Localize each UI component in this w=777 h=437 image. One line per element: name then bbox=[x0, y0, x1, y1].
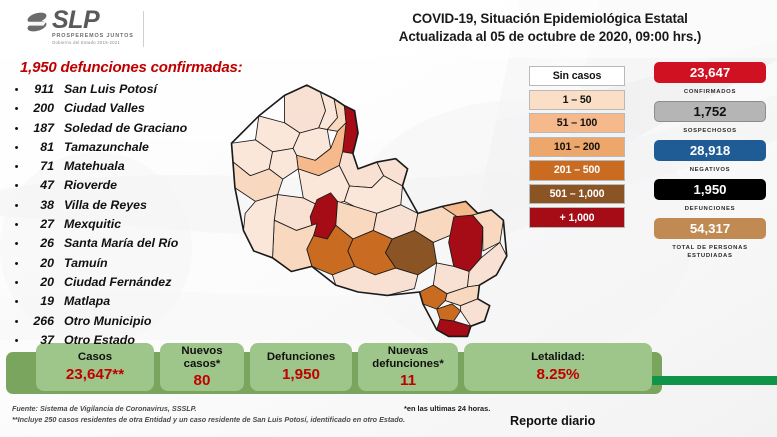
legend-label: Sin casos bbox=[553, 70, 602, 82]
map-legend: Sin casos1 – 5051 – 100101 – 200201 – 50… bbox=[529, 66, 625, 231]
death-count: 20 bbox=[21, 275, 54, 289]
list-item: •911San Luis Potosí bbox=[12, 82, 187, 101]
death-count: 911 bbox=[21, 82, 54, 96]
map-region bbox=[437, 319, 471, 336]
deaths-section-title: 1,950 defunciones confirmadas: bbox=[20, 59, 242, 76]
bullet-icon: • bbox=[12, 238, 21, 250]
legend-row: 501 – 1,000 bbox=[529, 184, 625, 204]
death-count: 200 bbox=[21, 101, 54, 115]
municipality-name: Ciudad Fernández bbox=[64, 275, 171, 289]
summary-card-value: 8.25% bbox=[536, 366, 579, 383]
death-count: 266 bbox=[21, 314, 54, 328]
map-region bbox=[437, 304, 461, 321]
death-count: 26 bbox=[21, 236, 54, 250]
bullet-icon: • bbox=[12, 316, 21, 328]
bullet-icon: • bbox=[12, 123, 21, 135]
death-count: 19 bbox=[21, 294, 54, 308]
legend-row: 101 – 200 bbox=[529, 137, 625, 157]
municipality-name: Soledad de Graciano bbox=[64, 121, 187, 135]
summary-card: Defunciones1,950 bbox=[250, 343, 352, 391]
page-title-line1: COVID-19, Situación Epidemiológica Estat… bbox=[330, 10, 770, 28]
statistics-panel: 23,647CONFIRMADOS1,752SOSPECHOSOS28,918N… bbox=[654, 62, 766, 265]
bullet-icon: • bbox=[12, 335, 21, 347]
list-item: •71Matehuala bbox=[12, 159, 187, 178]
death-count: 47 bbox=[21, 178, 54, 192]
footer-note-cases: **Incluye 250 casos residentes de otra E… bbox=[12, 414, 405, 425]
list-item: •19Matlapa bbox=[12, 294, 187, 313]
legend-label: 1 – 50 bbox=[563, 94, 592, 106]
logo-tagline: PROSPEREMOS JUNTOS bbox=[52, 33, 134, 39]
stat-value: 1,752 bbox=[693, 104, 726, 119]
list-item: •81Tamazunchale bbox=[12, 140, 187, 159]
bullet-icon: • bbox=[12, 219, 21, 231]
bullet-icon: • bbox=[12, 277, 21, 289]
summary-card-label: Nuevas defunciones* bbox=[372, 345, 444, 370]
death-count: 187 bbox=[21, 121, 54, 135]
list-item: •20Ciudad Fernández bbox=[12, 275, 187, 294]
map-region bbox=[243, 195, 277, 258]
stat-label: NEGATIVOS bbox=[654, 166, 766, 174]
municipality-name: Otro Municipio bbox=[64, 314, 151, 328]
stat-label: DEFUNCIONES bbox=[654, 205, 766, 213]
death-count: 38 bbox=[21, 198, 54, 212]
stat-value-pill: 1,950 bbox=[654, 179, 766, 200]
logo-divider bbox=[143, 11, 144, 47]
municipality-name: Matehuala bbox=[64, 159, 125, 173]
municipality-name: Ciudad Valles bbox=[64, 101, 145, 115]
summary-card-value: 11 bbox=[400, 372, 416, 389]
summary-card-value: 1,950 bbox=[282, 366, 320, 383]
footer-report-label: Reporte diario bbox=[510, 414, 595, 428]
list-item: •200Ciudad Valles bbox=[12, 101, 187, 120]
bullet-icon: • bbox=[12, 84, 21, 96]
summary-card-value: 80 bbox=[194, 372, 211, 389]
logo-subtitle: Gobierno del Estado 2015-2021 bbox=[52, 40, 134, 45]
legend-label: 501 – 1,000 bbox=[550, 188, 605, 200]
municipality-name: Matlapa bbox=[64, 294, 110, 308]
municipality-name: Tamazunchale bbox=[64, 140, 149, 154]
municipality-name: Otro Estado bbox=[64, 333, 135, 347]
list-item: •266Otro Municipio bbox=[12, 314, 187, 333]
list-item: •47Rioverde bbox=[12, 178, 187, 197]
legend-row: + 1,000 bbox=[529, 207, 625, 227]
stat-value-pill: 1,752 bbox=[654, 101, 766, 122]
stat-value: 54,317 bbox=[690, 221, 730, 236]
legend-row: Sin casos bbox=[529, 66, 625, 86]
death-count: 71 bbox=[21, 159, 54, 173]
bullet-icon: • bbox=[12, 161, 21, 173]
stat-label: CONFIRMADOS bbox=[654, 88, 766, 96]
footer-source-line: Fuente: Sistema de Vigilancia de Coronav… bbox=[12, 403, 405, 414]
list-item: •38Villa de Reyes bbox=[12, 198, 187, 217]
stat-value: 23,647 bbox=[690, 65, 730, 80]
bullet-icon: • bbox=[12, 180, 21, 192]
summary-card-label: Letalidad: bbox=[531, 351, 585, 364]
list-item: •37Otro Estado bbox=[12, 333, 187, 352]
legend-label: 201 – 500 bbox=[554, 164, 600, 176]
legend-label: + 1,000 bbox=[560, 212, 595, 224]
page-title: COVID-19, Situación Epidemiológica Estat… bbox=[330, 10, 770, 45]
summary-bar-strip bbox=[640, 376, 777, 385]
municipality-name: Mexquitic bbox=[64, 217, 121, 231]
death-count: 37 bbox=[21, 333, 54, 347]
bullet-icon: • bbox=[12, 200, 21, 212]
bullet-icon: • bbox=[12, 103, 21, 115]
stat-value: 1,950 bbox=[693, 182, 726, 197]
summary-card-label: Defunciones bbox=[267, 351, 335, 364]
municipality-name: Rioverde bbox=[64, 178, 117, 192]
summary-card-label: Casos bbox=[78, 351, 112, 364]
death-count: 27 bbox=[21, 217, 54, 231]
municipality-name: Santa María del Río bbox=[64, 236, 178, 250]
stat-value-pill: 23,647 bbox=[654, 62, 766, 83]
list-item: •20Tamuín bbox=[12, 256, 187, 275]
legend-row: 201 – 500 bbox=[529, 160, 625, 180]
legend-row: 1 – 50 bbox=[529, 90, 625, 110]
stat-value: 28,918 bbox=[690, 143, 730, 158]
summary-card-value: 23,647** bbox=[66, 366, 124, 383]
footer-note-24h: *en las ultimas 24 horas. bbox=[404, 404, 490, 413]
stat-value-pill: 28,918 bbox=[654, 140, 766, 161]
municipality-name: San Luis Potosí bbox=[64, 82, 157, 96]
slp-logo: SLP PROSPEREMOS JUNTOS Gobierno del Esta… bbox=[24, 8, 144, 47]
municipality-name: Villa de Reyes bbox=[64, 198, 147, 212]
municipality-name: Tamuín bbox=[64, 256, 108, 270]
list-item: •187Soledad de Graciano bbox=[12, 121, 187, 140]
stat-label: SOSPECHOSOS bbox=[654, 127, 766, 135]
bullet-icon: • bbox=[12, 142, 21, 154]
list-item: •26Santa María del Río bbox=[12, 236, 187, 255]
footer-source: Fuente: Sistema de Vigilancia de Coronav… bbox=[12, 403, 405, 426]
state-choropleth-map bbox=[215, 80, 525, 345]
stat-value-pill: 54,317 bbox=[654, 218, 766, 239]
summary-card: Nuevas defunciones*11 bbox=[358, 343, 458, 391]
deaths-by-municipality-list: •911San Luis Potosí•200Ciudad Valles•187… bbox=[12, 82, 187, 352]
legend-row: 51 – 100 bbox=[529, 113, 625, 133]
summary-card-label: Nuevos casos* bbox=[181, 345, 222, 370]
death-count: 20 bbox=[21, 256, 54, 270]
legend-label: 101 – 200 bbox=[554, 141, 600, 153]
logo-wordmark: SLP bbox=[52, 8, 134, 32]
summary-card: Letalidad:8.25% bbox=[464, 343, 652, 391]
legend-label: 51 – 100 bbox=[557, 117, 597, 129]
death-count: 81 bbox=[21, 140, 54, 154]
bullet-icon: • bbox=[12, 258, 21, 270]
stat-label: TOTAL DE PERSONAS ESTUDIADAS bbox=[654, 244, 766, 260]
page-title-line2: Actualizada al 05 de octubre de 2020, 09… bbox=[330, 28, 770, 46]
slp-logo-icon bbox=[24, 10, 50, 36]
bullet-icon: • bbox=[12, 296, 21, 308]
list-item: •27Mexquitic bbox=[12, 217, 187, 236]
